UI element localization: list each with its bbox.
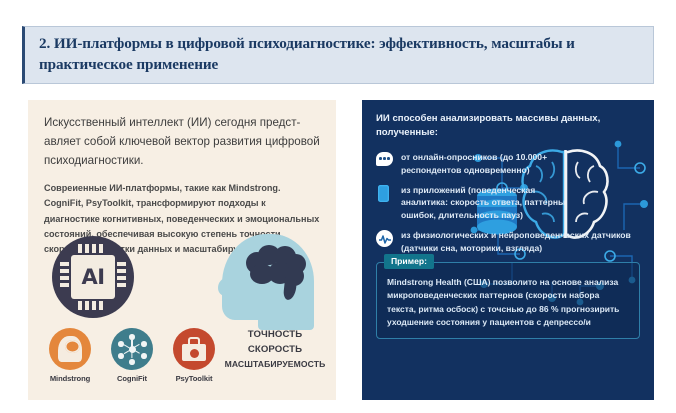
platform-cognifit[interactable]: CogniFit xyxy=(106,328,158,383)
bullet-item-surveys: от онлайн-опросников (до 10.000+ респонд… xyxy=(376,151,640,177)
lead-paragraph: Искусственный интеллект (ИИ) сегодня пре… xyxy=(44,114,320,170)
left-illustration: AI xyxy=(28,232,336,400)
example-callout: Пример: Mindstrong Health (США) позволит… xyxy=(376,262,640,339)
mobile-phone-icon xyxy=(376,185,393,202)
toolbox-gear-icon xyxy=(173,328,215,370)
chat-bubble-icon xyxy=(376,152,393,169)
slide-title-banner: 2. ИИ-платформы в цифровой психодиагност… xyxy=(22,26,654,84)
bullet-text: из физиологических и нейроповеденческих … xyxy=(401,229,640,255)
platform-label: Mindstrong xyxy=(44,374,96,383)
kpi-list: ТОЧНОСТЬ СКОРОСТЬ МАСШТАБИРУЕМОСТЬ xyxy=(216,328,334,371)
bullet-item-sensors: из физиологических и нейроповеденческих … xyxy=(376,229,640,255)
platform-badges: Mindstrong Cogni xyxy=(44,328,220,383)
example-tag: Пример: xyxy=(384,254,434,269)
left-content-panel: Искусственный интеллект (ИИ) сегодня пре… xyxy=(28,100,336,400)
brain-icon xyxy=(244,244,308,296)
page-title: 2. ИИ-платформы в цифровой психодиагност… xyxy=(39,34,639,75)
right-panel-heading: ИИ способен анализировать массивы данных… xyxy=(376,112,640,141)
kpi-accuracy: ТОЧНОСТЬ xyxy=(216,328,334,343)
kpi-scalability: МАСШТАБИРУЕМОСТЬ xyxy=(216,358,334,371)
kpi-speed: СКОРОСТЬ xyxy=(216,343,334,358)
head-brain-icon xyxy=(49,328,91,370)
bullet-text: от онлайн-опросников (до 10.000+ респонд… xyxy=(401,151,579,177)
platform-psytoolkit[interactable]: PsyToolkit xyxy=(168,328,220,383)
ai-chip-label: AI xyxy=(81,267,104,288)
bullet-item-apps: из приложений (поведенческая аналитика: … xyxy=(376,184,640,223)
pulse-wave-icon xyxy=(376,230,393,247)
right-content-panel: ИИ способен анализировать массивы данных… xyxy=(362,100,654,400)
head-brain-illustration xyxy=(214,232,326,332)
molecule-icon xyxy=(111,328,153,370)
platform-mindstrong[interactable]: Mindstrong xyxy=(44,328,96,383)
bullet-text: из приложений (поведенческая аналитика: … xyxy=(401,184,579,223)
platform-label: PsyToolkit xyxy=(168,374,220,383)
platform-label: CogniFit xyxy=(106,374,158,383)
ai-chip-icon: AI xyxy=(52,236,134,318)
example-text: Mindstrong Health (США) позволито на осн… xyxy=(387,276,629,330)
